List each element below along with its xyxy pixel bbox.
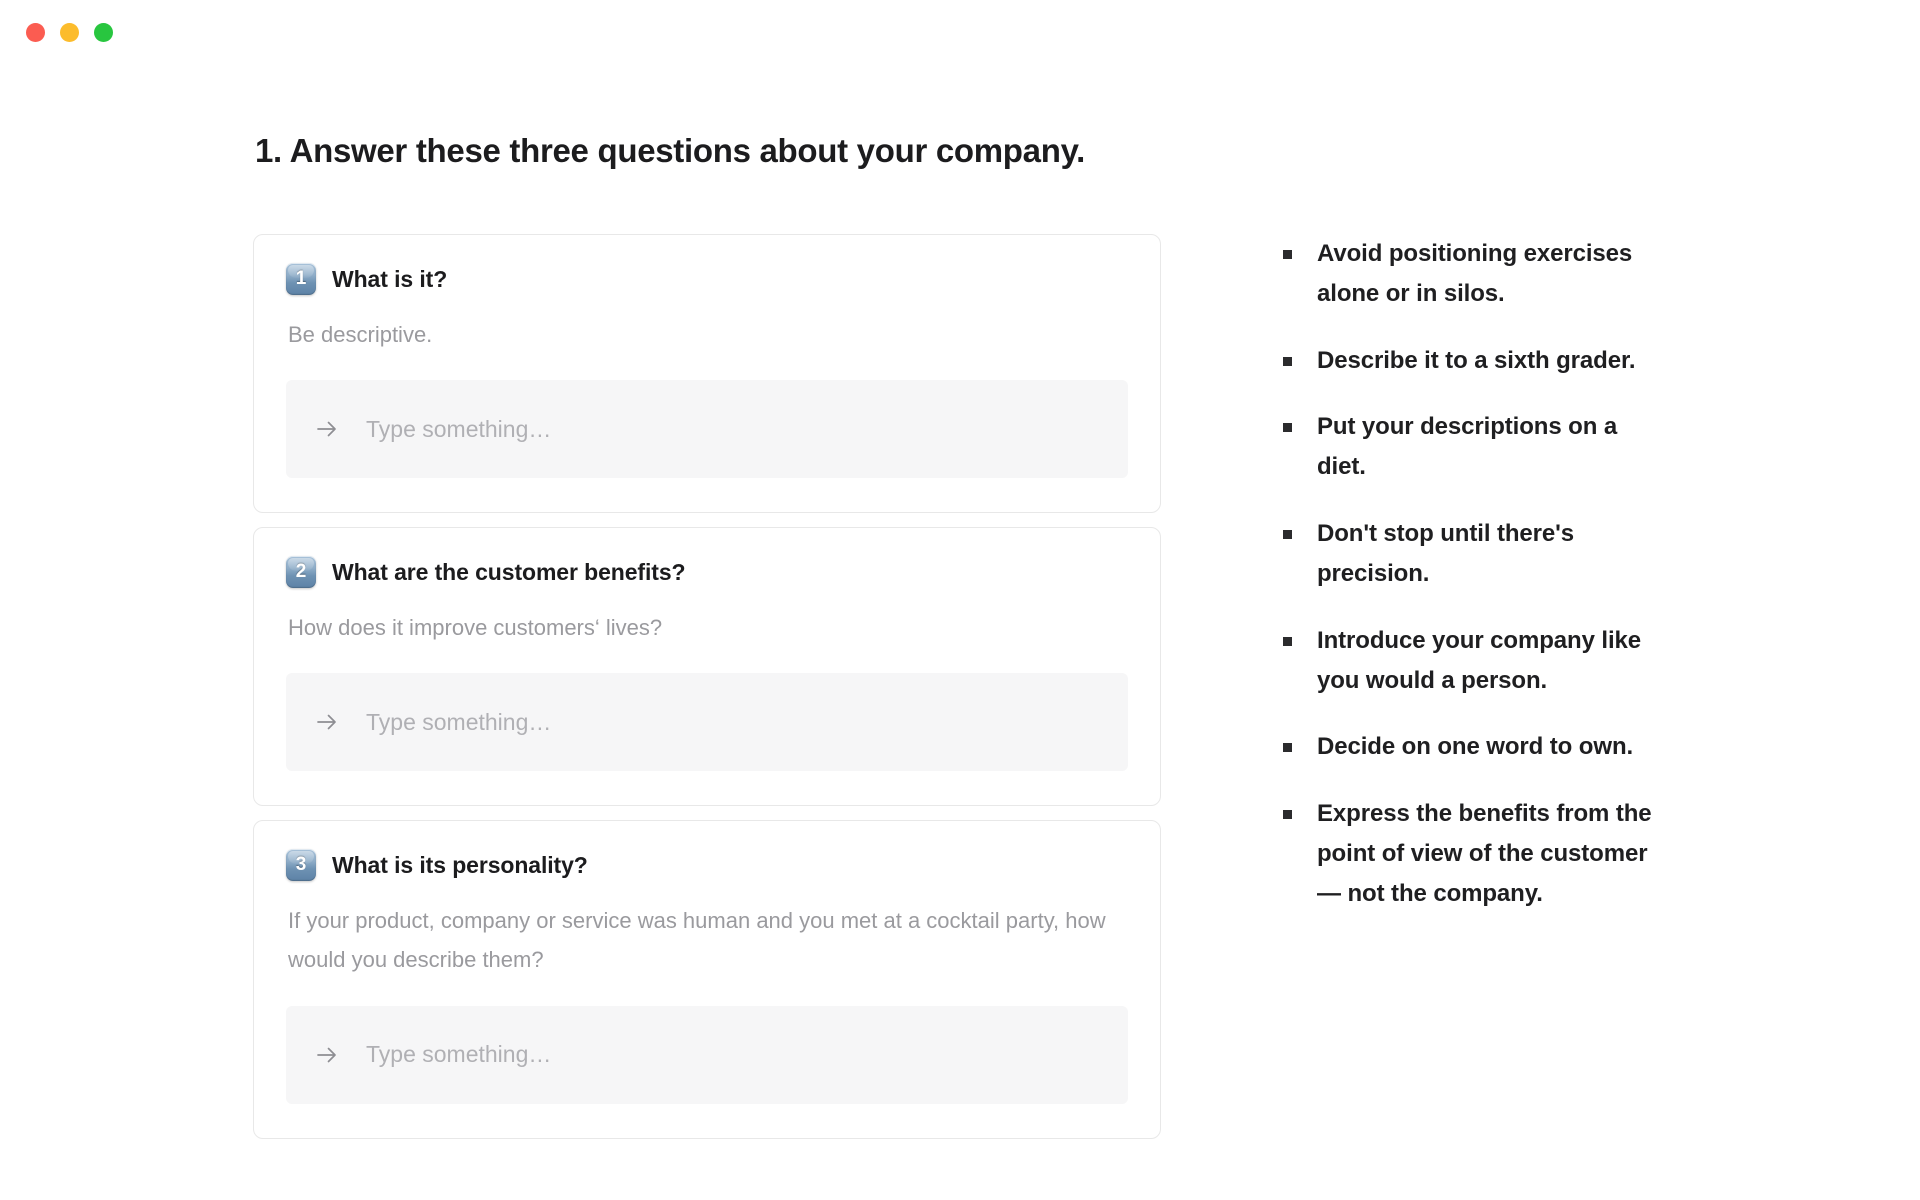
keycap-number-icon: 2 [286, 556, 316, 588]
bullet-square-icon [1283, 530, 1292, 539]
keycap-number-icon: 3 [286, 849, 316, 881]
question-description: Be descriptive. [288, 315, 1128, 354]
answer-input-placeholder: Type something… [366, 1041, 551, 1068]
bullet-square-icon [1283, 423, 1292, 432]
question-card-1[interactable]: 1 What is it? Be descriptive. Type somet… [253, 234, 1161, 513]
list-item: Decide on one word to own. [1283, 727, 1663, 767]
list-item: Avoid positioning exercises alone or in … [1283, 234, 1663, 314]
list-item: Describe it to a sixth grader. [1283, 341, 1663, 381]
list-item: Don't stop until there's precision. [1283, 514, 1663, 594]
tip-text: Describe it to a sixth grader. [1317, 341, 1635, 381]
list-item: Introduce your company like you would a … [1283, 621, 1663, 701]
question-description: If your product, company or service was … [288, 901, 1128, 979]
answer-input-1[interactable]: Type something… [286, 380, 1128, 478]
page-content: 1. Answer these three questions about yo… [0, 62, 1920, 1200]
arrow-right-icon [314, 416, 340, 442]
bullet-square-icon [1283, 743, 1292, 752]
answer-input-2[interactable]: Type something… [286, 673, 1128, 771]
list-item: Express the benefits from the point of v… [1283, 794, 1663, 913]
traffic-lights [26, 23, 113, 42]
question-title: What is its personality? [332, 852, 588, 879]
maximize-window-button[interactable] [94, 23, 113, 42]
tip-text: Don't stop until there's precision. [1317, 514, 1663, 594]
bullet-square-icon [1283, 810, 1292, 819]
arrow-right-icon [314, 709, 340, 735]
question-card-2[interactable]: 2 What are the customer benefits? How do… [253, 527, 1161, 806]
answer-input-placeholder: Type something… [366, 709, 551, 736]
questions-list: 1 What is it? Be descriptive. Type somet… [253, 234, 1161, 1153]
page-title: 1. Answer these three questions about yo… [255, 132, 1085, 170]
window-titlebar [0, 0, 1920, 62]
keycap-number-icon: 1 [286, 263, 316, 295]
tip-text: Avoid positioning exercises alone or in … [1317, 234, 1663, 314]
arrow-right-icon [314, 1042, 340, 1068]
question-header: 3 What is its personality? [286, 849, 1128, 881]
bullet-square-icon [1283, 250, 1292, 259]
question-header: 1 What is it? [286, 263, 1128, 295]
question-title: What are the customer benefits? [332, 559, 685, 586]
question-title: What is it? [332, 266, 447, 293]
minimize-window-button[interactable] [60, 23, 79, 42]
question-description: How does it improve customers‘ lives? [288, 608, 1128, 647]
tip-text: Decide on one word to own. [1317, 727, 1633, 767]
tip-text: Express the benefits from the point of v… [1317, 794, 1663, 913]
close-window-button[interactable] [26, 23, 45, 42]
tip-text: Put your descriptions on a diet. [1317, 407, 1663, 487]
bullet-square-icon [1283, 357, 1292, 366]
bullet-square-icon [1283, 637, 1292, 646]
answer-input-placeholder: Type something… [366, 416, 551, 443]
question-header: 2 What are the customer benefits? [286, 556, 1128, 588]
question-card-3[interactable]: 3 What is its personality? If your produ… [253, 820, 1161, 1138]
list-item: Put your descriptions on a diet. [1283, 407, 1663, 487]
tip-text: Introduce your company like you would a … [1317, 621, 1663, 701]
answer-input-3[interactable]: Type something… [286, 1006, 1128, 1104]
tips-list: Avoid positioning exercises alone or in … [1283, 234, 1663, 941]
